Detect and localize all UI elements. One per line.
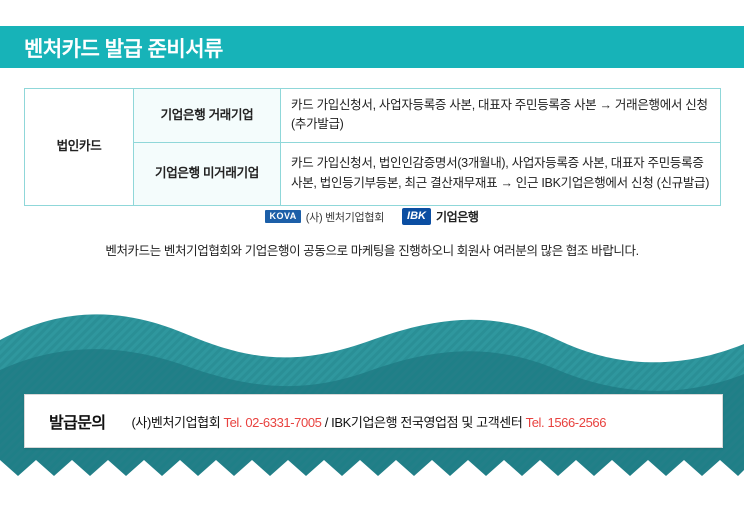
row-subtitle: 기업은행 거래기업 [134, 89, 281, 143]
contact-separator: / [325, 415, 328, 430]
table-row: 법인카드 기업은행 거래기업 카드 가입신청서, 사업자등록증 사본, 대표자 … [25, 89, 721, 143]
tel-number-2: 1566-2566 [547, 415, 606, 430]
contact-label: 발급문의 [49, 409, 105, 433]
ibk-logo-icon: IBK [402, 208, 431, 224]
tel-number-1: 02-6331-7005 [245, 415, 321, 430]
category-cell: 법인카드 [25, 89, 134, 206]
poster-page: 벤처카드 발급 준비서류 법인카드 기업은행 거래기업 카드 가입신청서, 사업… [0, 0, 744, 505]
kova-logo-icon: KOVA [265, 210, 300, 223]
contact-org: (사)벤처기업협회 [131, 415, 220, 430]
ibk-logo: IBK 기업은행 [402, 208, 479, 225]
row-description: 카드 가입신청서, 사업자등록증 사본, 대표자 주민등록증 사본 → 거래은행… [281, 89, 721, 143]
tel-label-1: Tel. [223, 415, 242, 430]
documents-table: 법인카드 기업은행 거래기업 카드 가입신청서, 사업자등록증 사본, 대표자 … [24, 88, 721, 206]
ibk-logo-label: 기업은행 [436, 208, 479, 225]
page-title: 벤처카드 발급 준비서류 [24, 33, 223, 63]
contact-box: 발급문의 (사)벤처기업협회 Tel. 02-6331-7005 / IBK기업… [24, 394, 723, 448]
row-subtitle: 기업은행 미거래기업 [134, 142, 281, 205]
kova-logo-label: (사) 벤처기업협회 [306, 209, 384, 225]
documents-table-wrap: 법인카드 기업은행 거래기업 카드 가입신청서, 사업자등록증 사본, 대표자 … [24, 88, 721, 206]
notice-text: 벤처카드는 벤처기업협회와 기업은행이 공동으로 마케팅을 진행하오니 회원사 … [0, 240, 744, 259]
kova-logo: KOVA (사) 벤처기업협회 [265, 209, 384, 225]
row-description: 카드 가입신청서, 법인인감증명서(3개월내), 사업자등록증 사본, 대표자 … [281, 142, 721, 205]
tel-label-2: Tel. [526, 415, 545, 430]
contact-bank: IBK기업은행 전국영업점 및 고객센터 [331, 415, 522, 430]
partner-logos: KOVA (사) 벤처기업협회 IBK 기업은행 [0, 208, 744, 225]
contact-text: (사)벤처기업협회 Tel. 02-6331-7005 / IBK기업은행 전국… [131, 412, 606, 431]
